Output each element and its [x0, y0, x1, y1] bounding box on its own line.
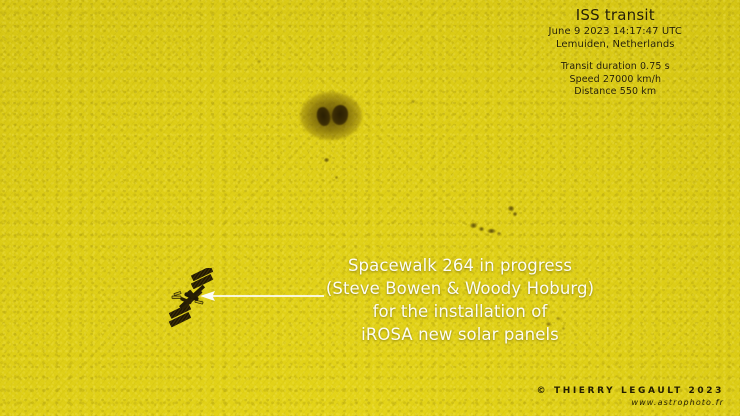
- header-title: ISS transit: [549, 6, 682, 25]
- header-stat-speed: Speed 27000 km/h: [549, 74, 682, 87]
- sunspot-pore-l: [411, 100, 415, 103]
- caption-line-3: for the installation of: [322, 300, 598, 323]
- credit-copyright: © THIERRY LEGAULT 2023: [537, 385, 724, 397]
- annotation-arrow: [198, 288, 326, 304]
- caption-block: Spacewalk 264 in progress (Steve Bowen &…: [322, 254, 598, 346]
- sunspot-pore-g: [487, 229, 496, 233]
- caption-line-2: (Steve Bowen & Woody Hoburg): [322, 277, 598, 300]
- credit-website: www.astrophoto.fr: [537, 397, 724, 408]
- sunspot-pore-m: [257, 60, 261, 63]
- sunspot-pore-b: [335, 176, 338, 179]
- screenshot-root: ISS transit June 9 2023 14:17:47 UTC Lem…: [0, 0, 740, 416]
- caption-line-4: iROSA new solar panels: [322, 323, 598, 346]
- header-location: Lemuiden, Netherlands: [549, 38, 682, 51]
- main-sunspot-group: [300, 92, 362, 140]
- header-datetime: June 9 2023 14:17:47 UTC: [549, 25, 682, 38]
- credit-block: © THIERRY LEGAULT 2023 www.astrophoto.fr: [537, 385, 724, 408]
- header-stat-duration: Transit duration 0.75 s: [549, 61, 682, 74]
- sunspot-pore-a: [324, 158, 329, 162]
- sunspot-pore-f: [479, 227, 484, 231]
- header-spacer: [549, 51, 682, 61]
- sunspot-pore-e: [470, 223, 477, 228]
- sunspot-pore-d: [513, 212, 517, 216]
- sunspot-pore-h: [497, 232, 501, 235]
- caption-line-1: Spacewalk 264 in progress: [322, 254, 598, 277]
- sunspot-pore-c: [508, 206, 514, 211]
- header-info-block: ISS transit June 9 2023 14:17:47 UTC Lem…: [549, 6, 682, 99]
- header-stat-distance: Distance 550 km: [549, 86, 682, 99]
